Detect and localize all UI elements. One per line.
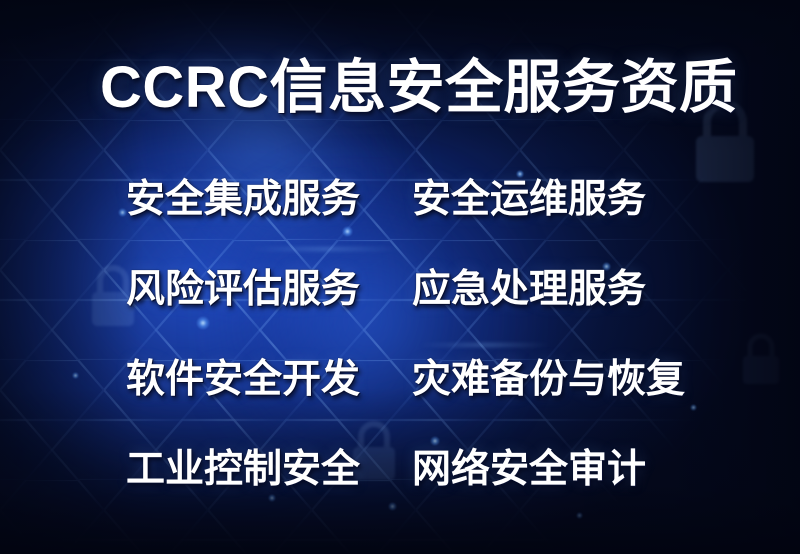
service-item: 安全集成服务	[126, 178, 412, 222]
service-item: 应急处理服务	[412, 268, 712, 312]
service-row: 软件安全开发 灾难备份与恢复	[126, 358, 726, 448]
service-item: 网络安全审计	[412, 448, 712, 492]
service-row: 风险评估服务 应急处理服务	[126, 268, 726, 358]
service-row: 安全集成服务 安全运维服务	[126, 178, 726, 268]
service-item: 工业控制安全	[126, 448, 412, 492]
service-item: 风险评估服务	[126, 268, 412, 312]
service-list: 安全集成服务 安全运维服务 风险评估服务 应急处理服务 软件安全开发 灾难备份与…	[126, 178, 726, 538]
service-item: 灾难备份与恢复	[412, 358, 712, 402]
poster-content: CCRC信息安全服务资质 安全集成服务 安全运维服务 风险评估服务 应急处理服务…	[0, 0, 800, 554]
ccrc-qualification-poster: CCRC信息安全服务资质 安全集成服务 安全运维服务 风险评估服务 应急处理服务…	[0, 0, 800, 554]
page-title: CCRC信息安全服务资质	[100, 58, 738, 119]
service-item: 安全运维服务	[412, 178, 712, 222]
service-row: 工业控制安全 网络安全审计	[126, 448, 726, 538]
service-item: 软件安全开发	[126, 358, 412, 402]
